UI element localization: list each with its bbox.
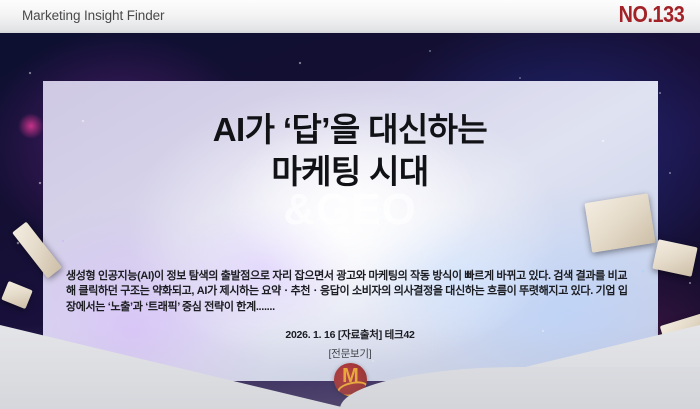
hero-banner: &GEO AI가 ‘답’을 대신하는 마케팅 시대 생성형 인공지능(AI)이 … — [0, 33, 700, 409]
headline-line-1: AI가 ‘답’을 대신하는 — [0, 109, 700, 151]
brand-logo: M — [334, 363, 367, 396]
article-summary: 생성형 인공지능(AI)이 정보 탐색의 출발점으로 자리 잡으면서 광고와 마… — [66, 269, 636, 315]
read-full-article-link-wrap: [전문보기] — [0, 344, 700, 362]
issue-number-badge: NO.133 — [618, 1, 684, 28]
newsletter-card: Marketing Insight Finder NO.133 &GEO AI가… — [0, 0, 700, 409]
article-source-line: 2026. 1. 16 [자료출처] 테크42 — [0, 327, 700, 342]
hero-headline: AI가 ‘답’을 대신하는 마케팅 시대 — [0, 109, 700, 193]
read-full-article-link[interactable]: [전문보기] — [329, 348, 372, 360]
page-title: Marketing Insight Finder — [22, 8, 164, 23]
headline-line-2: 마케팅 시대 — [0, 151, 700, 193]
page-header: Marketing Insight Finder NO.133 — [0, 0, 700, 33]
floating-paper-decoration — [584, 193, 655, 252]
